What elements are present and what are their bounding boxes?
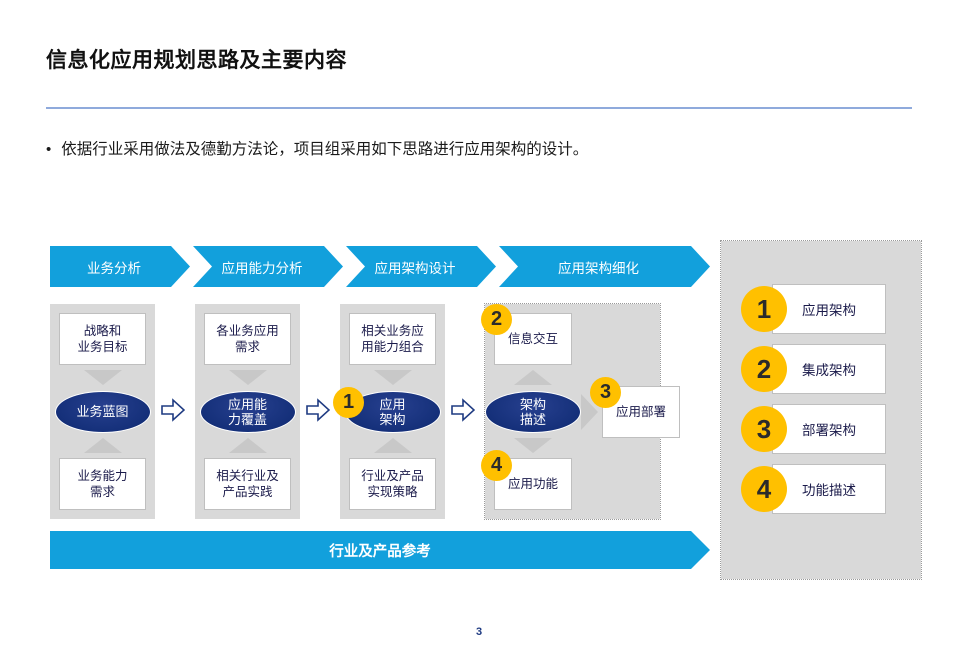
stage-column-1: 战略和 业务目标 业务蓝图 业务能力 需求 bbox=[50, 304, 155, 519]
down-triangle-icon bbox=[514, 438, 552, 453]
line1: 行业及产品 bbox=[361, 469, 424, 483]
line1: 战略和 bbox=[84, 324, 122, 338]
phase-label-1: 业务分析 bbox=[87, 257, 153, 277]
phase-chevron-1[interactable]: 业务分析 bbox=[50, 246, 190, 287]
line1: 业务能力 bbox=[77, 469, 127, 483]
phase-label-4: 应用架构细化 bbox=[558, 257, 651, 277]
legend-item-2[interactable]: 2 集成架构 bbox=[741, 344, 901, 394]
stage3-reference-box[interactable]: 行业及产品 实现策略 bbox=[349, 458, 436, 510]
line1: 应用 bbox=[379, 397, 405, 412]
line1: 架构 bbox=[520, 397, 546, 412]
stage2-reference-box[interactable]: 相关行业及 产品实践 bbox=[204, 458, 291, 510]
bullet-marker-icon: • bbox=[46, 140, 51, 160]
phase-chevron-2[interactable]: 应用能力分析 bbox=[193, 246, 343, 287]
stage1-input-text: 战略和 业务目标 bbox=[77, 323, 127, 355]
phase-label-2: 应用能力分析 bbox=[222, 257, 315, 277]
line2: 业务目标 bbox=[77, 340, 127, 354]
stage4-function-text: 应用功能 bbox=[508, 476, 558, 492]
page-number: 3 bbox=[0, 626, 958, 638]
phase-chevron-band: 业务分析 应用能力分析 应用架构设计 应用架构细化 bbox=[50, 246, 710, 287]
down-triangle-icon bbox=[84, 370, 122, 385]
line2: 需求 bbox=[90, 485, 115, 499]
line1: 应用能 bbox=[228, 397, 267, 412]
legend-badge-1: 1 bbox=[741, 286, 787, 332]
stage2-input-text: 各业务应用 需求 bbox=[216, 323, 279, 355]
bullet-text: 依据行业采用做法及德勤方法论，项目组采用如下思路进行应用架构的设计。 bbox=[61, 140, 588, 160]
stage3-reference-text: 行业及产品 实现策略 bbox=[361, 468, 424, 500]
flow-arrow-2-icon bbox=[306, 398, 330, 422]
line2: 架构 bbox=[379, 412, 405, 427]
badge-4[interactable]: 4 bbox=[481, 450, 512, 481]
legend-label-3: 部署架构 bbox=[772, 404, 886, 454]
stage3-input-box[interactable]: 相关业务应 用能力组合 bbox=[349, 313, 436, 365]
legend-badge-2: 2 bbox=[741, 346, 787, 392]
line1: 相关业务应 bbox=[361, 324, 424, 338]
stage-column-4: 信息交互 2 架构 描述 应用部署 3 应用功能 4 bbox=[485, 304, 660, 519]
line2: 描述 bbox=[520, 412, 546, 427]
stage4-result-text: 架构 描述 bbox=[520, 397, 546, 427]
page-title: 信息化应用规划思路及主要内容 bbox=[46, 44, 347, 74]
line2: 实现策略 bbox=[367, 485, 417, 499]
legend-label-4: 功能描述 bbox=[772, 464, 886, 514]
stage1-result-text: 业务蓝图 bbox=[76, 404, 128, 419]
up-triangle-icon bbox=[84, 438, 122, 453]
bottom-band-label: 行业及产品参考 bbox=[329, 540, 431, 561]
legend-item-4[interactable]: 4 功能描述 bbox=[741, 464, 901, 514]
stage2-reference-text: 相关行业及 产品实践 bbox=[216, 468, 279, 500]
line2: 用能力组合 bbox=[361, 340, 424, 354]
stage2-result-text: 应用能 力覆盖 bbox=[228, 397, 267, 427]
line1: 相关行业及 bbox=[216, 469, 279, 483]
legend-badge-4: 4 bbox=[741, 466, 787, 512]
flow-arrow-3-icon bbox=[451, 398, 475, 422]
badge-2[interactable]: 2 bbox=[481, 304, 512, 335]
stage-column-3: 相关业务应 用能力组合 应用 架构 1 行业及产品 实现策略 bbox=[340, 304, 445, 519]
bullet-paragraph: • 依据行业采用做法及德勤方法论，项目组采用如下思路进行应用架构的设计。 bbox=[46, 140, 588, 160]
down-triangle-icon bbox=[229, 370, 267, 385]
stage3-input-text: 相关业务应 用能力组合 bbox=[361, 323, 424, 355]
line2: 需求 bbox=[235, 340, 260, 354]
phase-label-3: 应用架构设计 bbox=[375, 257, 468, 277]
stage1-reference-text: 业务能力 需求 bbox=[77, 468, 127, 500]
down-triangle-icon bbox=[374, 370, 412, 385]
legend-label-1: 应用架构 bbox=[772, 284, 886, 334]
phase-chevron-4[interactable]: 应用架构细化 bbox=[499, 246, 710, 287]
stage2-input-box[interactable]: 各业务应用 需求 bbox=[204, 313, 291, 365]
line2: 产品实践 bbox=[222, 485, 272, 499]
badge-1[interactable]: 1 bbox=[333, 387, 364, 418]
legend-label-2: 集成架构 bbox=[772, 344, 886, 394]
stage4-deployment-text: 应用部署 bbox=[616, 404, 666, 420]
stage4-result-ellipse[interactable]: 架构 描述 bbox=[485, 391, 581, 433]
stage1-input-box[interactable]: 战略和 业务目标 bbox=[59, 313, 146, 365]
phase-chevron-3[interactable]: 应用架构设计 bbox=[346, 246, 496, 287]
stage1-result-ellipse[interactable]: 业务蓝图 bbox=[55, 391, 151, 433]
legend-badge-3: 3 bbox=[741, 406, 787, 452]
process-diagram: 业务分析 应用能力分析 应用架构设计 应用架构细化 战略和 业务目标 业务蓝图 … bbox=[50, 246, 710, 576]
line1: 各业务应用 bbox=[216, 324, 279, 338]
up-triangle-icon bbox=[374, 438, 412, 453]
stage1-reference-box[interactable]: 业务能力 需求 bbox=[59, 458, 146, 510]
bottom-reference-band[interactable]: 行业及产品参考 bbox=[50, 531, 710, 569]
stage3-result-text: 应用 架构 bbox=[379, 397, 405, 427]
legend-item-1[interactable]: 1 应用架构 bbox=[741, 284, 901, 334]
stage-column-2: 各业务应用 需求 应用能 力覆盖 相关行业及 产品实践 bbox=[195, 304, 300, 519]
legend-item-3[interactable]: 3 部署架构 bbox=[741, 404, 901, 454]
up-triangle-icon bbox=[229, 438, 267, 453]
badge-3[interactable]: 3 bbox=[590, 377, 621, 408]
legend-panel: 1 应用架构 2 集成架构 3 部署架构 4 功能描述 bbox=[721, 241, 921, 579]
flow-arrow-1-icon bbox=[161, 398, 185, 422]
title-divider bbox=[46, 107, 912, 109]
stage2-result-ellipse[interactable]: 应用能 力覆盖 bbox=[200, 391, 296, 433]
stage4-info-exchange-text: 信息交互 bbox=[508, 331, 558, 347]
line2: 力覆盖 bbox=[228, 412, 267, 427]
up-triangle-icon bbox=[514, 370, 552, 385]
